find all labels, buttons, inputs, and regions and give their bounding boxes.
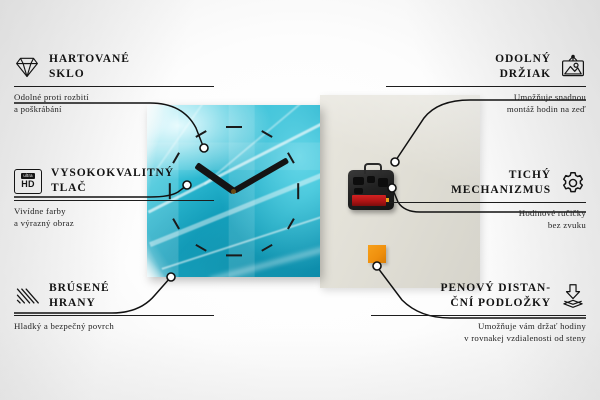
- feature-header: PENOVÝ DISTAN- ČNÍ PODLOŽKY: [371, 281, 586, 311]
- feature-description-line: Umožňuje vám držať hodiny: [371, 321, 586, 333]
- feature-foam-spacers: PENOVÝ DISTAN- ČNÍ PODLOŽKY Umožňuje vám…: [371, 281, 586, 344]
- ground-edges-icon: [14, 283, 40, 309]
- feature-header: ultra HD VYSOKOKVALITNÝ TLAČ: [14, 166, 214, 196]
- feature-description-line: Vivídne farby: [14, 206, 214, 218]
- connector-dot-left-1: [200, 144, 208, 152]
- feature-description-line: bez zvuku: [386, 220, 586, 232]
- feature-description-line: a výrazný obraz: [14, 218, 214, 230]
- feature-title: PENOVÝ DISTAN- ČNÍ PODLOŽKY: [441, 281, 551, 311]
- feature-title: BRÚSENÉ HRANY: [49, 281, 110, 311]
- feature-header: HARTOVANÉ SKLO: [14, 52, 214, 82]
- feature-divider: [14, 200, 214, 201]
- feature-description-line: v rovnakej vzdialenosti od steny: [371, 333, 586, 345]
- connector-dot-right-3: [373, 262, 381, 270]
- feature-divider: [371, 315, 586, 316]
- feature-high-quality-print: ultra HD VYSOKOKVALITNÝ TLAČ Vivídne far…: [14, 166, 214, 229]
- feature-description-line: Hodinové ručičky: [386, 208, 586, 220]
- feature-title: VYSOKOKVALITNÝ TLAČ: [51, 166, 174, 196]
- feature-description-line: a poškrábání: [14, 104, 214, 116]
- feature-title: TICHÝ MECHANIZMUS: [451, 168, 551, 198]
- feature-divider: [386, 86, 586, 87]
- foam-spacer-arrow-icon: [560, 283, 586, 309]
- infographic-canvas: HARTOVANÉ SKLO Odolné proti rozbití a po…: [0, 0, 600, 400]
- feature-hardened-glass: HARTOVANÉ SKLO Odolné proti rozbití a po…: [14, 52, 214, 115]
- gear-icon: [560, 170, 586, 196]
- feature-description-line: Umožňuje snadnou: [386, 92, 586, 104]
- feature-header: ODOLNÝ DRŽIAK: [386, 52, 586, 82]
- feature-description-line: montáž hodin na zeď: [386, 104, 586, 116]
- feature-ground-edges: BRÚSENÉ HRANY Hladký a bezpečný povrch: [14, 281, 214, 333]
- connector-dot-right-1: [391, 158, 399, 166]
- feature-title: HARTOVANÉ SKLO: [49, 52, 130, 82]
- feature-divider: [14, 315, 214, 316]
- feature-header: TICHÝ MECHANIZMUS: [386, 168, 586, 198]
- ultra-hd-icon: ultra HD: [14, 169, 42, 194]
- feature-title: ODOLNÝ DRŽIAK: [495, 52, 551, 82]
- feature-description-line: Odolné proti rozbití: [14, 92, 214, 104]
- diamond-icon: [14, 54, 40, 80]
- feature-durable-hanger: ODOLNÝ DRŽIAK Umožňuje snadnou montáž ho…: [386, 52, 586, 115]
- feature-description-line: Hladký a bezpečný povrch: [14, 321, 214, 333]
- feature-silent-mechanism: TICHÝ MECHANIZMUS Hodinové ručičky bez z…: [386, 168, 586, 231]
- feature-divider: [386, 202, 586, 203]
- picture-frame-hanger-icon: [560, 54, 586, 80]
- connector-dot-left-3: [167, 273, 175, 281]
- feature-divider: [14, 86, 214, 87]
- feature-header: BRÚSENÉ HRANY: [14, 281, 214, 311]
- ultra-hd-icon-main-text: HD: [21, 180, 34, 189]
